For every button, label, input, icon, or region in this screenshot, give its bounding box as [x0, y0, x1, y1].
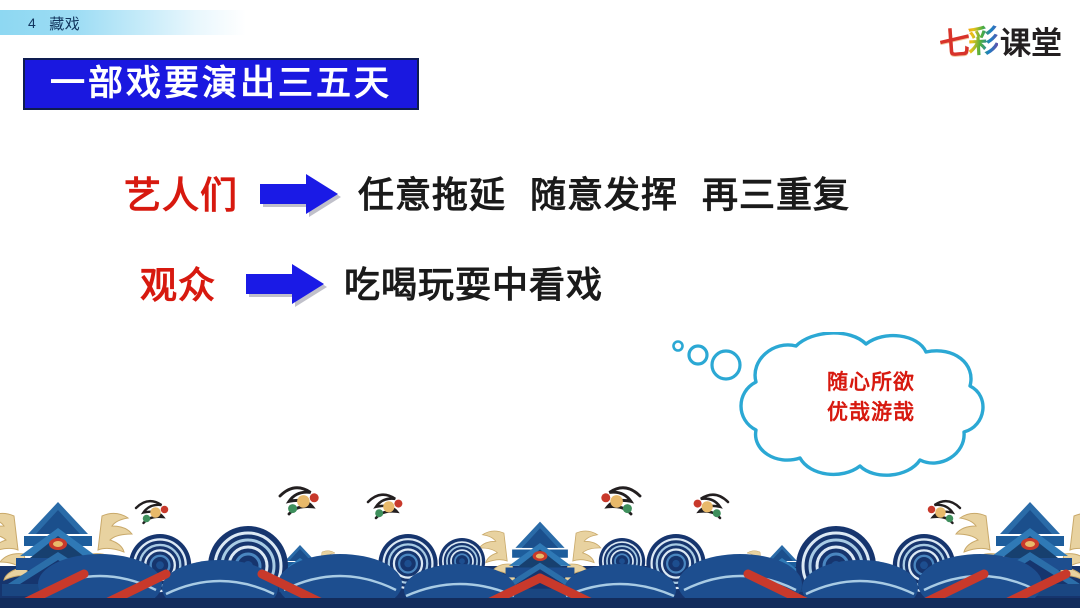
logo-char-cai: 彩 — [967, 15, 999, 62]
breadcrumb: 4 藏戏 — [28, 12, 80, 34]
content-row-artists: 艺人们 任意拖延随意发挥再三重复 — [124, 172, 850, 218]
row-predicate-text: 吃喝玩耍中看戏 — [344, 267, 603, 303]
row-subject-label: 观众 — [140, 267, 216, 304]
thought-bubble: 随心所欲 优哉游哉 — [664, 332, 994, 480]
row-predicate-text: 任意拖延随意发挥再三重复 — [358, 177, 850, 213]
content-row-audience: 观众 吃喝玩耍中看戏 — [140, 262, 603, 308]
row-subject-label: 艺人们 — [124, 177, 238, 214]
predicate-part-1: 任意拖延 — [358, 174, 506, 216]
right-arrow-icon — [242, 262, 328, 308]
logo-text-ketang: 课堂 — [1000, 18, 1062, 63]
brand-logo: 七 彩 课堂 — [939, 18, 1062, 63]
thought-line-2: 优哉游哉 — [786, 398, 956, 428]
slide-canvas: 4 藏戏 七 彩 课堂 一部戏要演出三五天 艺人们 任意拖延随意发挥再三重复 观… — [0, 0, 1080, 608]
logo-char-qi: 七 — [937, 17, 970, 64]
page-title: 一部戏要演出三五天 — [50, 66, 392, 101]
thought-line-1: 随心所欲 — [786, 368, 956, 398]
lesson-name: 藏戏 — [49, 13, 80, 34]
lesson-number: 4 — [28, 15, 36, 31]
predicate-part-2: 随意发挥 — [530, 174, 678, 216]
predicate-part-1: 吃喝玩耍中看戏 — [344, 264, 603, 306]
right-arrow-icon — [256, 172, 342, 218]
thought-bubble-text: 随心所欲 优哉游哉 — [786, 368, 956, 428]
page-title-banner: 一部戏要演出三五天 — [23, 58, 419, 110]
sea-wave-cliff-pattern — [0, 478, 1080, 608]
predicate-part-3: 再三重复 — [702, 174, 850, 216]
